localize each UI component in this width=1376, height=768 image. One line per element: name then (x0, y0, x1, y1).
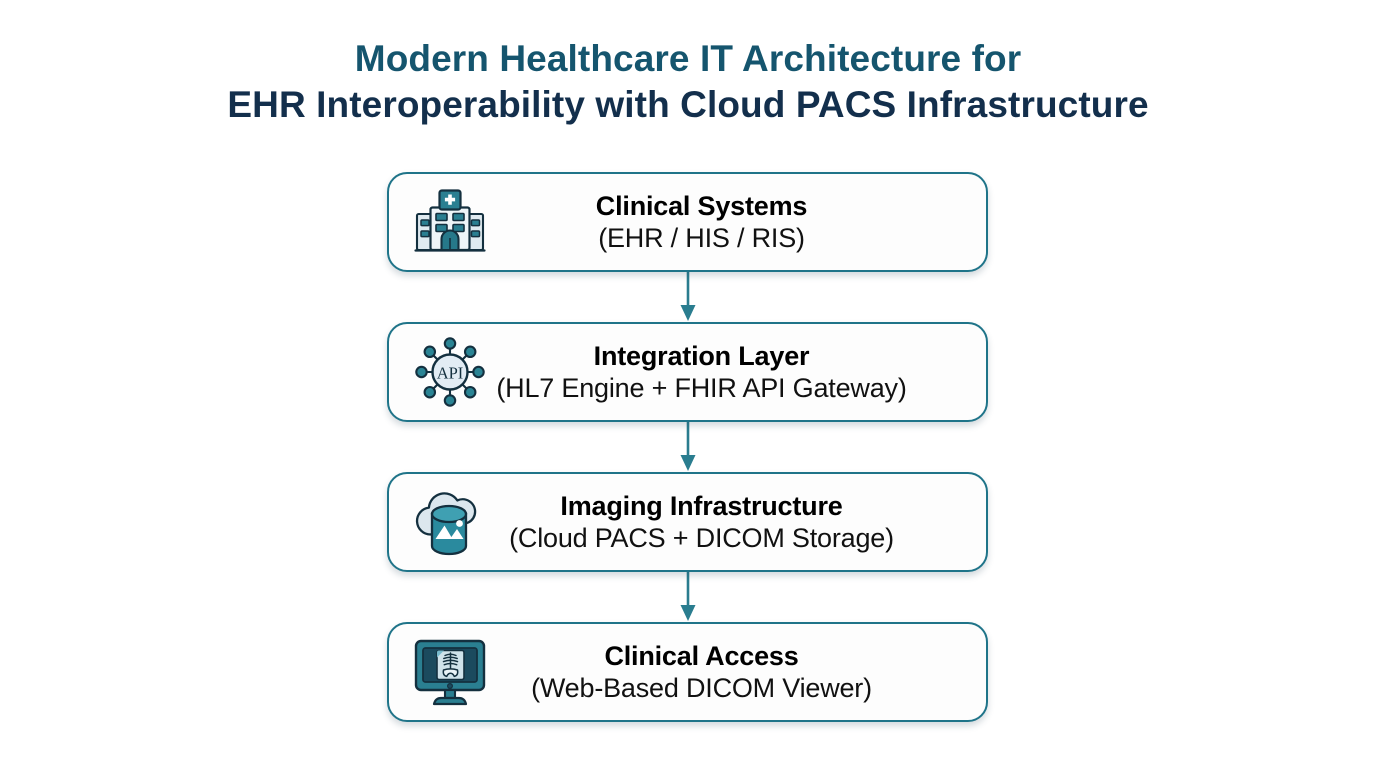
connector-arrow-3 (387, 572, 988, 622)
flow-node-text: Clinical Access (Web-Based DICOM Viewer) (495, 641, 986, 703)
flow-node-title: Clinical Access (495, 641, 908, 671)
flow-node-subtitle: (HL7 Engine + FHIR API Gateway) (495, 373, 908, 403)
flow-node-text: Clinical Systems (EHR / HIS / RIS) (495, 191, 986, 253)
flow-node-clinical-access[interactable]: Clinical Access (Web-Based DICOM Viewer) (387, 622, 988, 722)
api-hub-icon-label: API (437, 364, 464, 383)
flow-node-clinical-systems[interactable]: Clinical Systems (EHR / HIS / RIS) (387, 172, 988, 272)
connector-arrow-1 (387, 272, 988, 322)
page-title: Modern Healthcare IT Architecture for EH… (0, 40, 1376, 123)
flow-node-subtitle: (Web-Based DICOM Viewer) (495, 673, 908, 703)
connector-arrow-2 (387, 422, 988, 472)
diagram-canvas: Modern Healthcare IT Architecture for EH… (0, 0, 1376, 768)
flow-node-integration-layer[interactable]: API Integration Layer (HL7 Engine + FHIR… (387, 322, 988, 422)
page-title-line-1: Modern Healthcare IT Architecture for (0, 40, 1376, 86)
hospital-building-icon (411, 188, 489, 256)
api-hub-icon: API (411, 336, 489, 408)
flow-node-text: Imaging Infrastructure (Cloud PACS + DIC… (495, 491, 986, 553)
flow-node-subtitle: (Cloud PACS + DICOM Storage) (495, 523, 908, 553)
flowchart: Clinical Systems (EHR / HIS / RIS) (387, 172, 988, 722)
flow-node-title: Imaging Infrastructure (495, 491, 908, 521)
flow-node-title: Integration Layer (495, 341, 908, 371)
flow-node-title: Clinical Systems (495, 191, 908, 221)
flow-node-imaging-infrastructure[interactable]: Imaging Infrastructure (Cloud PACS + DIC… (387, 472, 988, 572)
cloud-database-image-icon (411, 487, 489, 557)
flow-node-subtitle: (EHR / HIS / RIS) (495, 223, 908, 253)
monitor-xray-icon (411, 637, 489, 707)
flow-node-text: Integration Layer (HL7 Engine + FHIR API… (495, 341, 986, 403)
page-title-line-2: EHR Interoperability with Cloud PACS Inf… (0, 86, 1376, 123)
